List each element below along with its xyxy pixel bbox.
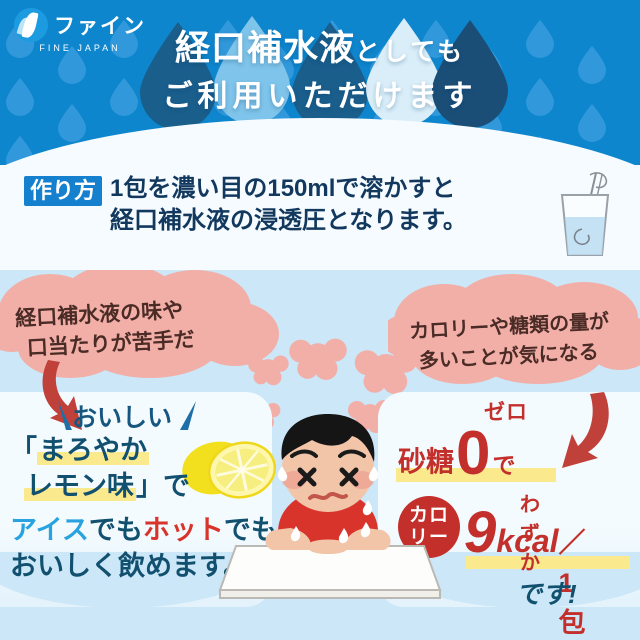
logo-row: ファイン bbox=[14, 8, 146, 42]
recipe-badge: 作り方 bbox=[24, 176, 102, 206]
logo-japanese-name: ファイン bbox=[54, 10, 146, 40]
zero-label: ゼロ bbox=[484, 396, 528, 426]
calorie-badge-line1: カロ bbox=[409, 505, 449, 527]
right-red-arrow-icon bbox=[548, 388, 624, 472]
ice-suffix: でも bbox=[89, 515, 143, 545]
header: ファイン FINE JAPAN 経口補水液としても ご利用いただけます bbox=[0, 0, 640, 168]
tired-person-icon bbox=[248, 404, 408, 584]
lemon-flavor-text: レモン味 bbox=[24, 471, 136, 501]
kcal-line: 9 kcal ／1包 bbox=[464, 504, 586, 640]
recipe-band: 作り方 1包を濃い目の150mlで溶かすと 経口補水液の浸透圧となります。 bbox=[0, 165, 640, 270]
desu-label: です! bbox=[516, 574, 577, 611]
kcal-unit: kcal bbox=[496, 521, 558, 561]
recipe-content: 作り方 1包を濃い目の150mlで溶かすと 経口補水液の浸透圧となります。 bbox=[24, 173, 467, 237]
right-bubble-text: カロリーや糖類の量が 多いことが気になる bbox=[409, 307, 612, 377]
accent-stroke-left-icon bbox=[56, 400, 74, 432]
glass-with-stirrer-icon bbox=[546, 169, 624, 261]
quote-open: 「 bbox=[10, 435, 37, 465]
ice-text: アイス bbox=[10, 515, 89, 545]
advertisement-banner: 経口補水液の味や 口当たりが苦手だ カロリーや糖類の量が 多いことが気になる お… bbox=[0, 0, 640, 640]
fine-leaf-emblem-icon bbox=[14, 8, 48, 42]
kcal-number: 9 bbox=[464, 504, 496, 562]
accent-stroke-right-icon bbox=[176, 400, 198, 432]
header-title-main: 経口補水液 bbox=[175, 29, 355, 68]
recipe-line2: 経口補水液の浸透圧となります。 bbox=[110, 205, 467, 237]
left-answer-line1: 「まろやか bbox=[10, 432, 278, 468]
sugar-zero-row: 砂糖 0 で bbox=[398, 426, 516, 482]
logo-english-name: FINE JAPAN bbox=[39, 43, 120, 53]
maroyaka-text: まろやか bbox=[37, 435, 149, 465]
de-particle: で bbox=[493, 448, 516, 482]
brand-logo[interactable]: ファイン FINE JAPAN bbox=[14, 8, 146, 53]
recipe-text: 1包を濃い目の150mlで溶かすと 経口補水液の浸透圧となります。 bbox=[110, 173, 467, 237]
hot-text: ホット bbox=[143, 515, 224, 545]
zero-value: 0 bbox=[456, 426, 490, 482]
left-answer-line2: レモン味」で bbox=[24, 468, 278, 504]
recipe-line1: 1包を濃い目の150mlで溶かすと bbox=[110, 173, 467, 205]
left-bubble-text: 経口補水液の味や 口当たりが苦手だ bbox=[15, 295, 196, 364]
header-title-line2: ご利用いただけます bbox=[0, 75, 640, 119]
header-title-suffix: としても bbox=[355, 38, 465, 66]
quote-close-de: 」で bbox=[136, 471, 190, 501]
